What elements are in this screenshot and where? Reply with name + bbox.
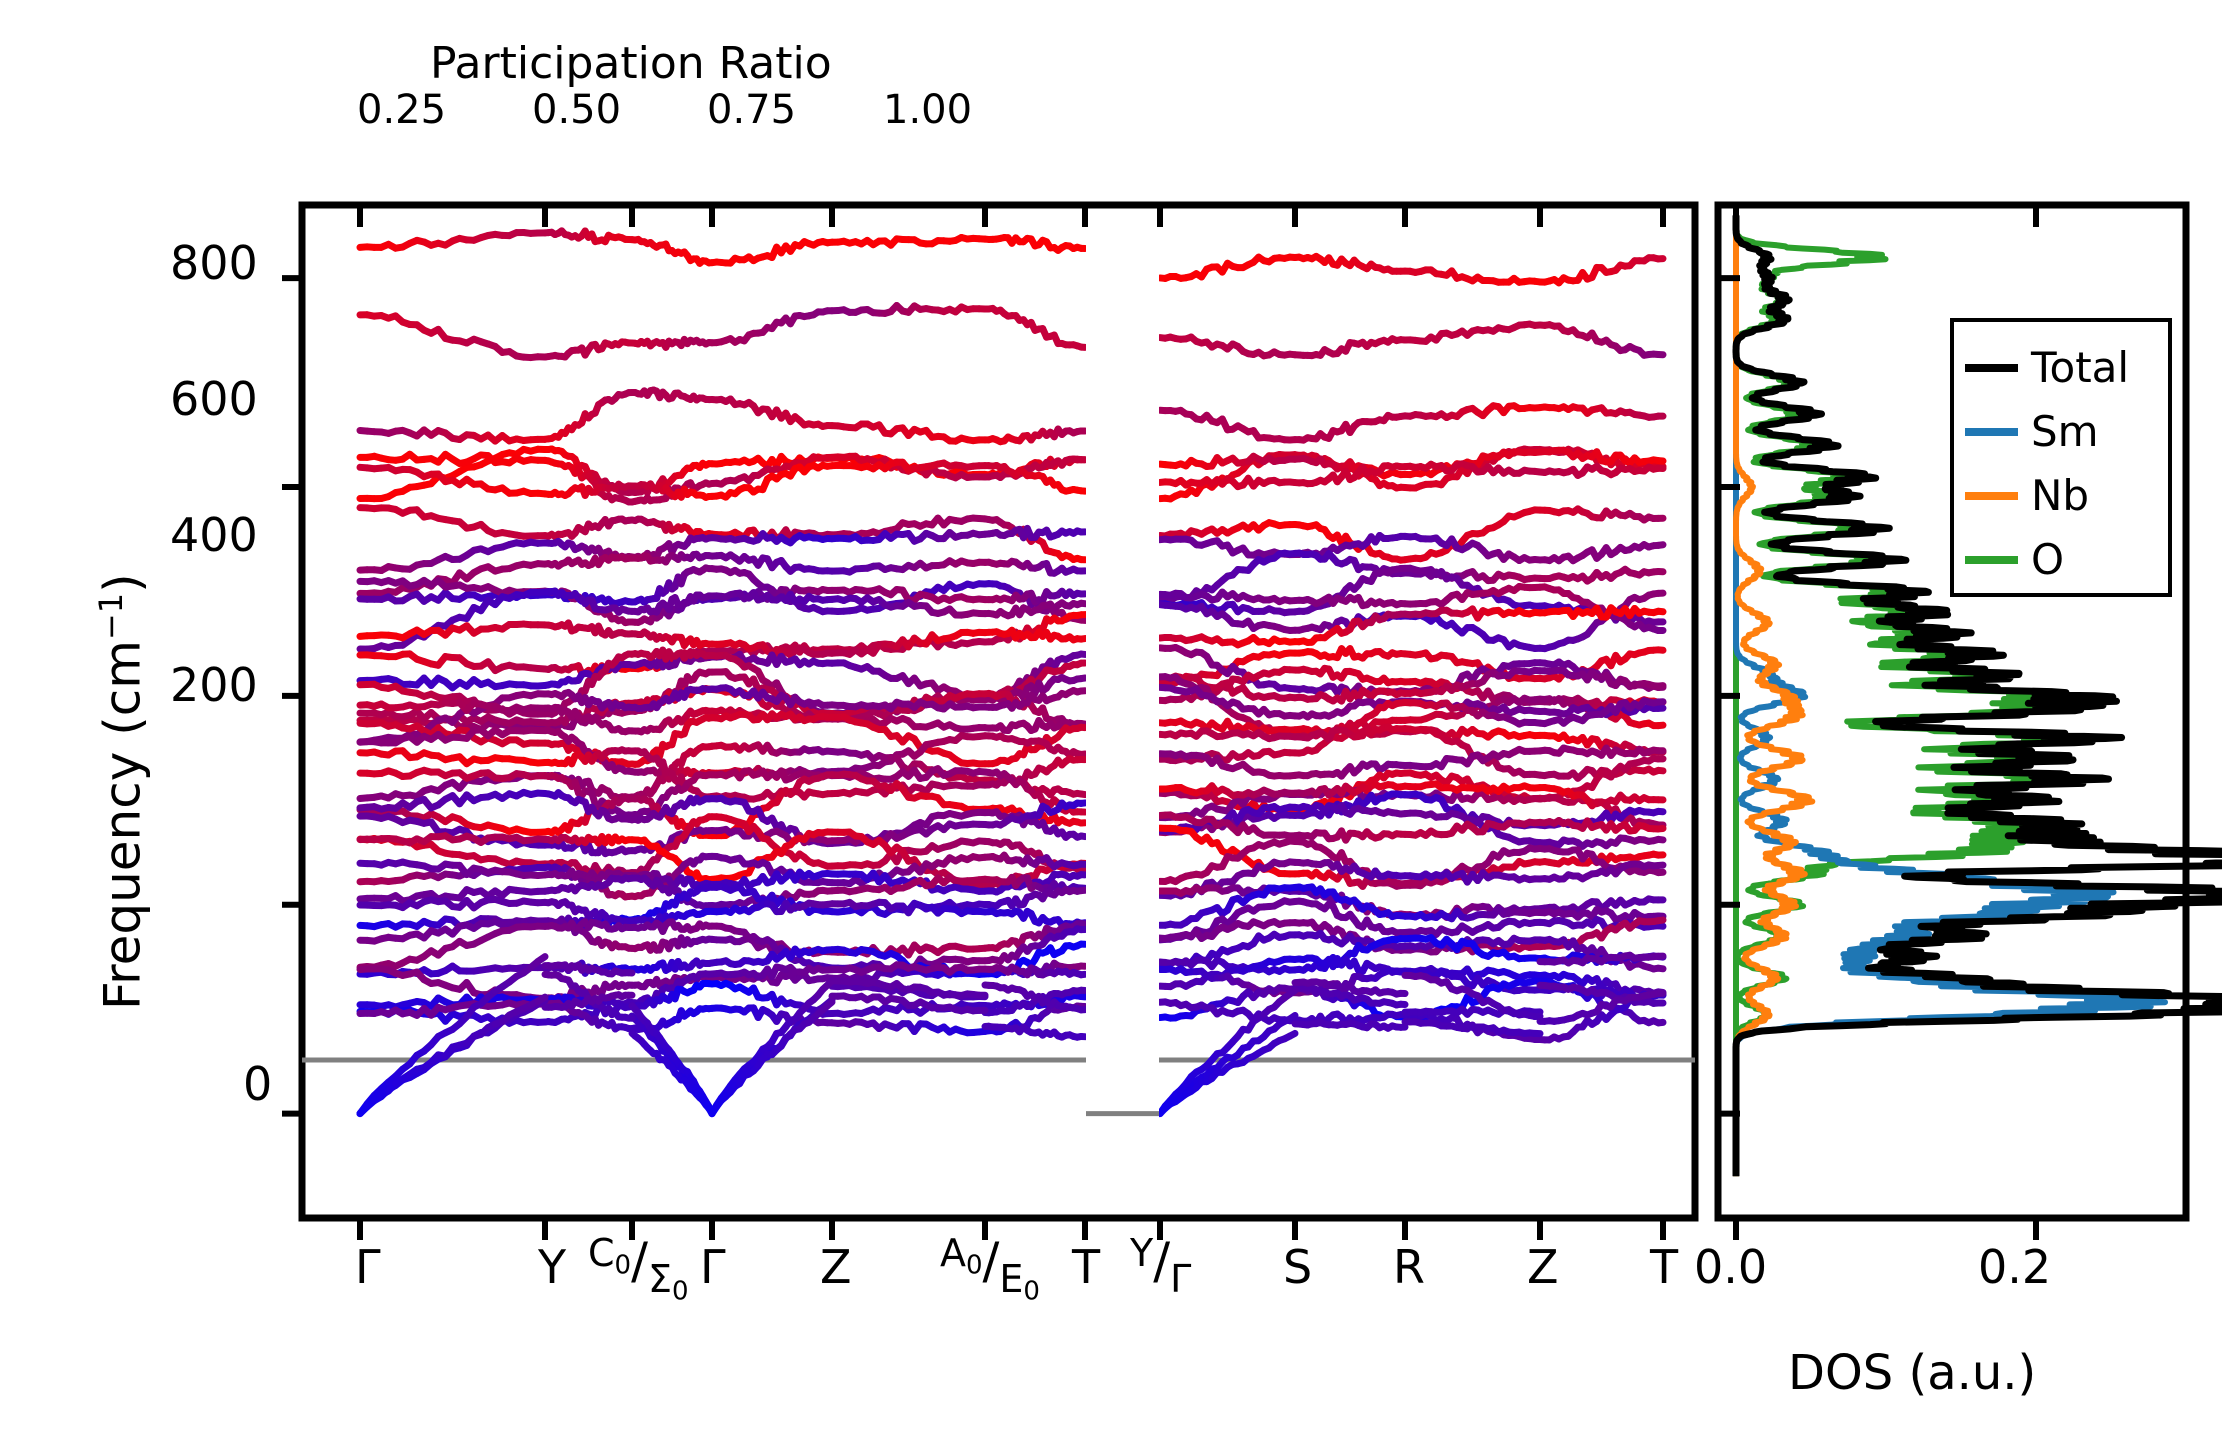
band-segment	[1081, 639, 1085, 640]
band-segment	[1658, 611, 1663, 612]
plot-svg	[0, 0, 2222, 1455]
band-segment	[1658, 545, 1663, 546]
band-segment	[1081, 678, 1085, 679]
band-segment	[1658, 686, 1663, 687]
figure-canvas: Participation Ratio 0.25 0.50 0.75 1.00 …	[0, 0, 2222, 1455]
